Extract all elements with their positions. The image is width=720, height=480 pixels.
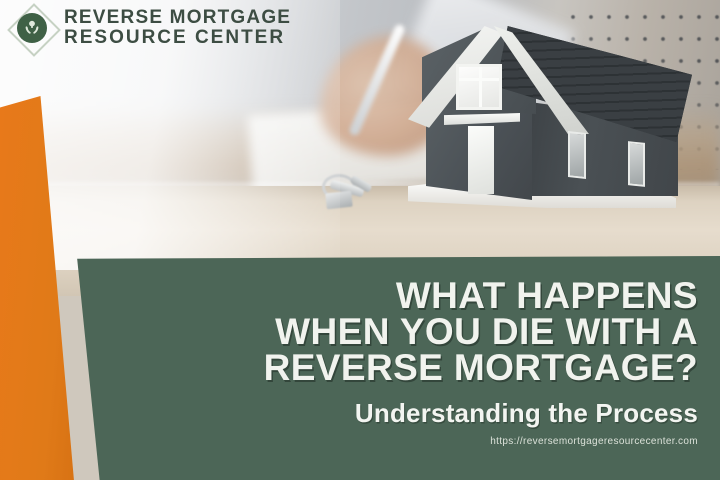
title-panel-content: WHAT HAPPENS WHEN YOU DIE WITH A REVERSE… <box>60 256 720 480</box>
model-house <box>400 14 700 224</box>
logo-line-2: RESOURCE CENTER <box>64 28 291 48</box>
tree-in-hands-icon <box>17 13 47 43</box>
subheadline: Understanding the Process <box>178 398 698 429</box>
headline-line-2: WHEN YOU DIE WITH A <box>178 314 698 350</box>
house-front-door <box>468 126 494 194</box>
reverse-mortgage-banner: REVERSE MORTGAGE RESOURCE CENTER WHAT HA… <box>0 0 720 480</box>
website-url[interactable]: https://reversemortgageresourcecenter.co… <box>178 436 698 447</box>
logo-line-1: REVERSE MORTGAGE <box>64 8 291 28</box>
headline-line-1: WHAT HAPPENS <box>178 278 698 314</box>
logo-mark <box>10 6 54 50</box>
headline-line-3: REVERSE MORTGAGE? <box>178 350 698 386</box>
house-upper-window <box>456 64 502 110</box>
logo-wordmark: REVERSE MORTGAGE RESOURCE CENTER <box>64 8 291 48</box>
house-side-window-2 <box>628 141 645 187</box>
title-panel: WHAT HAPPENS WHEN YOU DIE WITH A REVERSE… <box>60 256 720 480</box>
house-side-window-1 <box>568 131 586 179</box>
brand-logo[interactable]: REVERSE MORTGAGE RESOURCE CENTER <box>10 6 291 50</box>
